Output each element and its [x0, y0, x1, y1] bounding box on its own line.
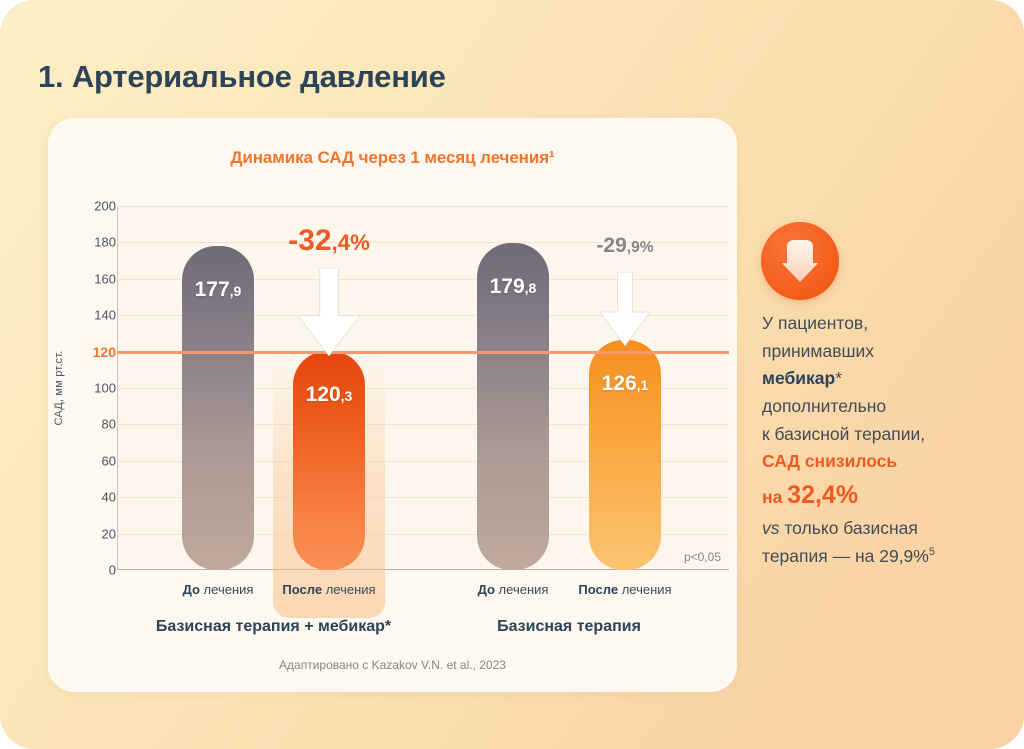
x-tick-label: После лечения: [282, 582, 375, 597]
y-tick-label: 60: [70, 453, 116, 468]
x-tick-label: До лечения: [478, 582, 549, 597]
group-label: Базисная терапия + мебикар*: [156, 618, 391, 636]
reference-line-120: [117, 351, 729, 354]
side-text-line: на 32,4%: [762, 476, 1012, 516]
y-tick-label: 180: [70, 235, 116, 250]
bar-orange-1: 120,3: [293, 351, 365, 570]
side-vs: vs: [762, 518, 780, 538]
xtick-rest: лечения: [200, 582, 253, 597]
y-tick-label: 20: [70, 526, 116, 541]
source-note: Адаптировано с Kazakov V.N. et al., 2023: [48, 658, 737, 672]
y-tick-label: 160: [70, 271, 116, 286]
delta-arrow-0: [298, 268, 360, 356]
side-text-line: vs только базисная: [762, 515, 1012, 543]
delta-int: -32: [288, 224, 331, 257]
page-title: 1. Артериальное давление: [38, 59, 446, 95]
bar-value-dec: ,1: [637, 377, 649, 393]
arrow-down-glyph: [780, 238, 820, 284]
bar-value-int: 120: [306, 383, 341, 406]
xtick-bold: До: [478, 582, 495, 597]
side-text-line: терапия — на 29,9%5: [762, 543, 1012, 571]
bar-gray-0: 177,9: [182, 246, 254, 570]
side-accent-text: САД снизилось: [762, 451, 897, 471]
chart-card: Динамика САД через 1 месяц лечения¹ САД,…: [48, 118, 737, 692]
y-tick-label: 80: [70, 417, 116, 432]
bar-value-dec: ,9: [230, 283, 242, 299]
side-text-line: САД снизилось: [762, 448, 1012, 476]
side-drug-name: мебикар: [762, 368, 835, 388]
chart-plot-area: САД, мм рт.ст. 0204060801001201401601802…: [117, 206, 729, 570]
y-tick-label: 40: [70, 490, 116, 505]
side-asterisk: *: [835, 368, 842, 388]
xtick-bold: После: [578, 582, 618, 597]
x-tick-label: После лечения: [578, 582, 671, 597]
chart-title: Динамика САД через 1 месяц лечения¹: [48, 148, 737, 168]
y-axis-title: САД, мм рт.ст.: [53, 350, 65, 425]
y-tick-label: 100: [70, 381, 116, 396]
side-footnote-marker: 5: [929, 546, 935, 558]
bar-value-int: 126: [602, 372, 637, 395]
delta-arrow-1: [600, 272, 650, 346]
bar-value-int: 177: [195, 278, 230, 301]
p-value-label: p<0,05: [684, 550, 721, 564]
xtick-rest: лечения: [618, 582, 671, 597]
bar-value-dec: ,3: [341, 388, 353, 404]
slide-root: 1. Артериальное давление Динамика САД че…: [0, 0, 1024, 749]
side-text-line: к базисной терапии,: [762, 421, 1012, 449]
bar-value-int: 179: [490, 275, 525, 298]
side-accent-value: 32,4%: [787, 481, 858, 509]
side-text-line: мебикар*: [762, 365, 1012, 393]
side-text-line: принимавших: [762, 338, 1012, 366]
delta-int: -29: [596, 234, 626, 257]
gridline: [117, 206, 729, 207]
side-text-line: У пациентов,: [762, 310, 1012, 338]
side-line-text: терапия — на 29,9%: [762, 546, 929, 566]
bar-value-label: 177,9: [182, 278, 254, 302]
delta-dec: ,9%: [627, 239, 654, 256]
bar-value-label: 120,3: [293, 383, 365, 407]
xtick-rest: лечения: [495, 582, 548, 597]
side-vs-rest: только базисная: [780, 518, 918, 538]
y-tick-label: 200: [70, 199, 116, 214]
bar-value-label: 179,8: [477, 275, 549, 299]
xtick-bold: До: [183, 582, 200, 597]
arrow-down-icon: [761, 222, 839, 300]
delta-label-0: -32,4%: [288, 224, 370, 258]
bar-gray-2: 179,8: [477, 243, 549, 570]
y-tick-label: 0: [70, 563, 116, 578]
bar-value-dec: ,8: [525, 280, 537, 296]
side-accent-prefix: на: [762, 487, 787, 507]
delta-dec: ,4%: [332, 230, 370, 255]
xtick-rest: лечения: [322, 582, 375, 597]
side-text-line: дополнительно: [762, 393, 1012, 421]
bar-amber-3: 126,1: [589, 340, 661, 570]
xtick-bold: После: [282, 582, 322, 597]
bar-value-label: 126,1: [589, 372, 661, 396]
x-tick-label: До лечения: [183, 582, 254, 597]
group-label: Базисная терапия: [497, 618, 641, 636]
y-tick-label: 120: [70, 344, 116, 360]
side-text-block: У пациентов,принимавшихмебикар*дополните…: [762, 310, 1012, 571]
y-tick-label: 140: [70, 308, 116, 323]
delta-label-1: -29,9%: [596, 234, 653, 258]
